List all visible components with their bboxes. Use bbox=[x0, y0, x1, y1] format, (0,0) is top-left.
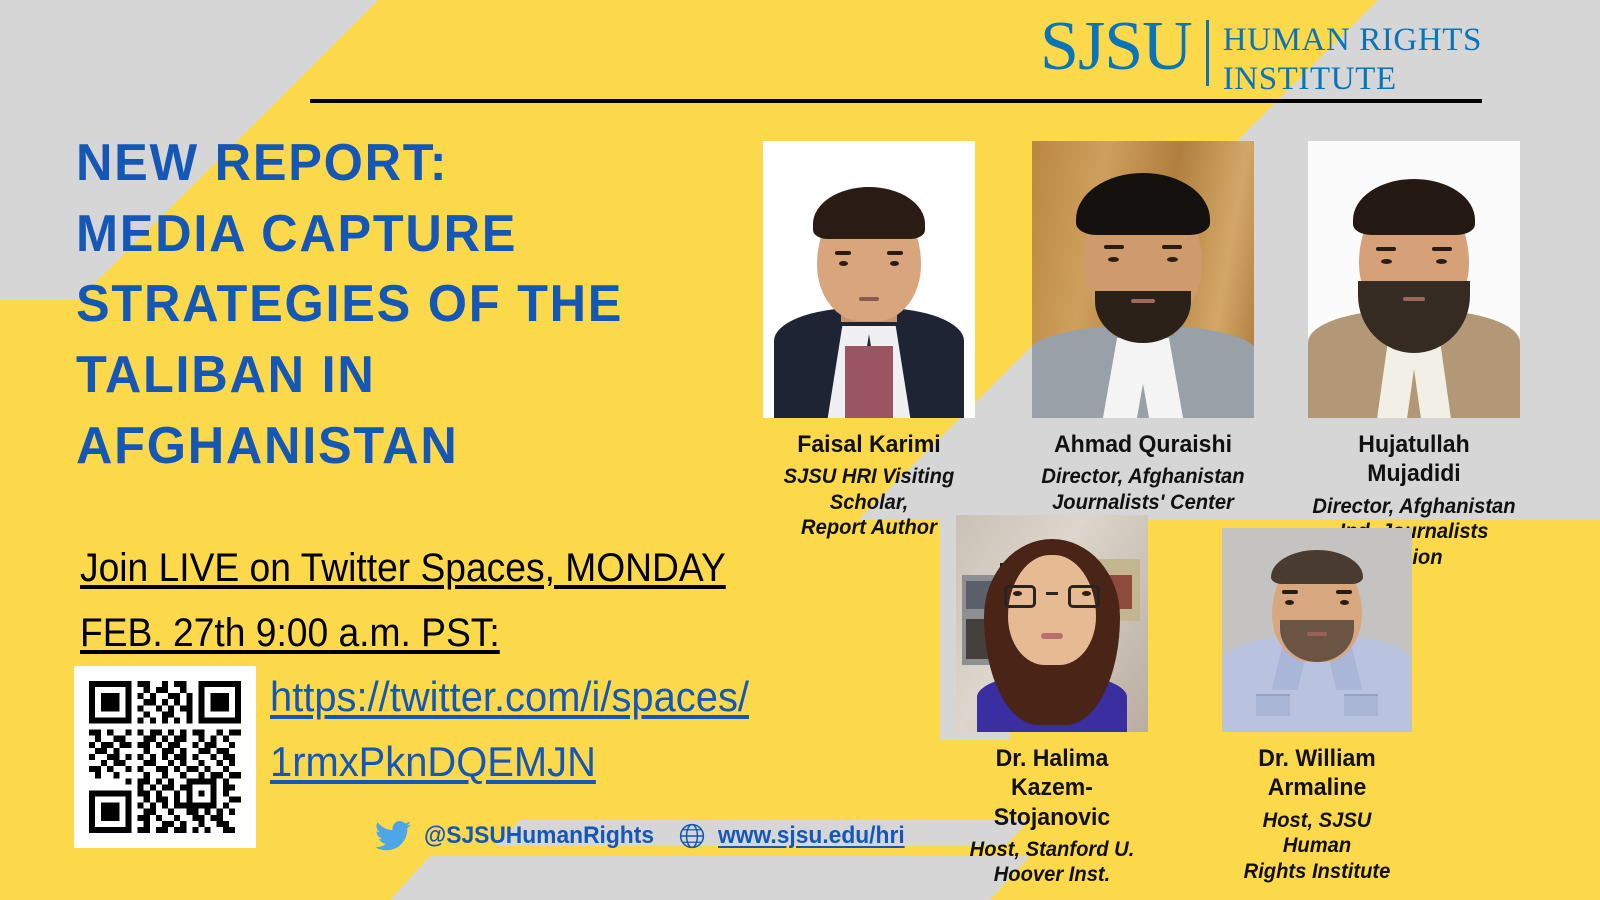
qr-code-graphic bbox=[89, 681, 241, 833]
website-link[interactable]: www.sjsu.edu/hri bbox=[718, 822, 905, 850]
speaker-photo-halima-kazem-stojanovic bbox=[956, 515, 1148, 732]
url-line-2[interactable]: 1rmxPknDQEMJN bbox=[270, 729, 878, 794]
spaces-url[interactable]: https://twitter.com/i/spaces/ 1rmxPknDQE… bbox=[270, 664, 910, 794]
title-line-2: MEDIA CAPTURE bbox=[76, 199, 697, 270]
portrait-art bbox=[763, 141, 975, 418]
sjsu-wordmark: SJSU bbox=[1040, 14, 1192, 81]
speaker-card-william-armaline: Dr. William Armaline Host, SJSU Human Ri… bbox=[1222, 528, 1412, 884]
speaker-role-line-1: Director, Afghanistan bbox=[1036, 464, 1249, 490]
portrait-art bbox=[1308, 141, 1520, 418]
footer-social: @SJSUHumanRights www.sjsu.edu/hri bbox=[375, 816, 915, 856]
institute-line-1: HUMAN RIGHTS bbox=[1223, 21, 1482, 60]
twitter-handle[interactable]: @SJSUHumanRights bbox=[424, 822, 654, 850]
portrait-art bbox=[1222, 528, 1412, 732]
title-line-5: AFGHANISTAN bbox=[76, 411, 697, 482]
institute-name: HUMAN RIGHTS INSTITUTE bbox=[1223, 21, 1482, 99]
event-line-2: FEB. 27th 9:00 a.m. PST: bbox=[80, 601, 898, 666]
speaker-photo-hujatullah-mujadidi bbox=[1308, 141, 1520, 418]
qr-code[interactable] bbox=[74, 666, 256, 848]
twitter-icon[interactable] bbox=[375, 821, 411, 851]
speaker-photo-ahmad-quraishi bbox=[1032, 141, 1254, 418]
speaker-role-line-2: Report Author bbox=[767, 515, 971, 541]
speaker-card-ahmad-quraishi: Ahmad Quraishi Director, Afghanistan Jou… bbox=[1032, 141, 1254, 515]
speaker-name: Faisal Karimi bbox=[767, 430, 971, 459]
globe-icon bbox=[679, 823, 705, 849]
speaker-role-line-1: SJSU HRI Visiting Scholar, bbox=[767, 464, 971, 515]
globe-glyph bbox=[679, 823, 705, 849]
speaker-card-hujatullah-mujadidi: Hujatullah Mujadidi Director, Afghanista… bbox=[1308, 141, 1520, 570]
speaker-photo-william-armaline bbox=[1222, 528, 1412, 732]
title-line-3: STRATEGIES OF THE bbox=[76, 269, 697, 340]
sjsu-hri-logo: SJSU HUMAN RIGHTS INSTITUTE bbox=[1040, 14, 1482, 99]
speaker-role-line-2: Hoover Inst. bbox=[960, 862, 1144, 888]
header-rule bbox=[310, 99, 1482, 103]
twitter-bird-glyph bbox=[375, 821, 411, 851]
url-line-1[interactable]: https://twitter.com/i/spaces/ bbox=[270, 664, 878, 729]
speaker-role-line-1: Host, SJSU Human bbox=[1226, 808, 1408, 859]
speaker-name: Ahmad Quraishi bbox=[1036, 430, 1249, 459]
speaker-role-line-1: Director, Afghanistan bbox=[1312, 494, 1516, 520]
page-title: NEW REPORT: MEDIA CAPTURE STRATEGIES OF … bbox=[76, 128, 716, 482]
speaker-name: Dr. William Armaline bbox=[1226, 744, 1408, 803]
event-line-1: Join LIVE on Twitter Spaces, MONDAY bbox=[80, 536, 898, 601]
institute-line-2: INSTITUTE bbox=[1223, 60, 1482, 99]
speaker-role-line-2: Rights Institute bbox=[1226, 859, 1408, 885]
event-details: Join LIVE on Twitter Spaces, MONDAY FEB.… bbox=[80, 536, 960, 666]
speaker-card-faisal-karimi: Faisal Karimi SJSU HRI Visiting Scholar,… bbox=[763, 141, 975, 541]
title-line-1: NEW REPORT: bbox=[76, 128, 697, 199]
flyer-poster: SJSU HUMAN RIGHTS INSTITUTE NEW REPORT: … bbox=[0, 0, 1600, 900]
speaker-role-line-1: Host, Stanford U. bbox=[960, 837, 1144, 863]
speaker-name: Hujatullah Mujadidi bbox=[1312, 430, 1516, 489]
speaker-role-line-2: Journalists' Center bbox=[1036, 490, 1249, 516]
portrait-art bbox=[956, 515, 1148, 732]
speaker-card-halima-kazem-stojanovic: Dr. Halima Kazem- Stojanovic Host, Stanf… bbox=[956, 515, 1148, 888]
title-line-4: TALIBAN IN bbox=[76, 340, 697, 411]
speaker-photo-faisal-karimi bbox=[763, 141, 975, 418]
portrait-art bbox=[1032, 141, 1254, 418]
logo-divider bbox=[1206, 20, 1209, 86]
speaker-name-line-2: Stojanovic bbox=[960, 803, 1144, 832]
speaker-name-line-1: Dr. Halima Kazem- bbox=[960, 744, 1144, 803]
